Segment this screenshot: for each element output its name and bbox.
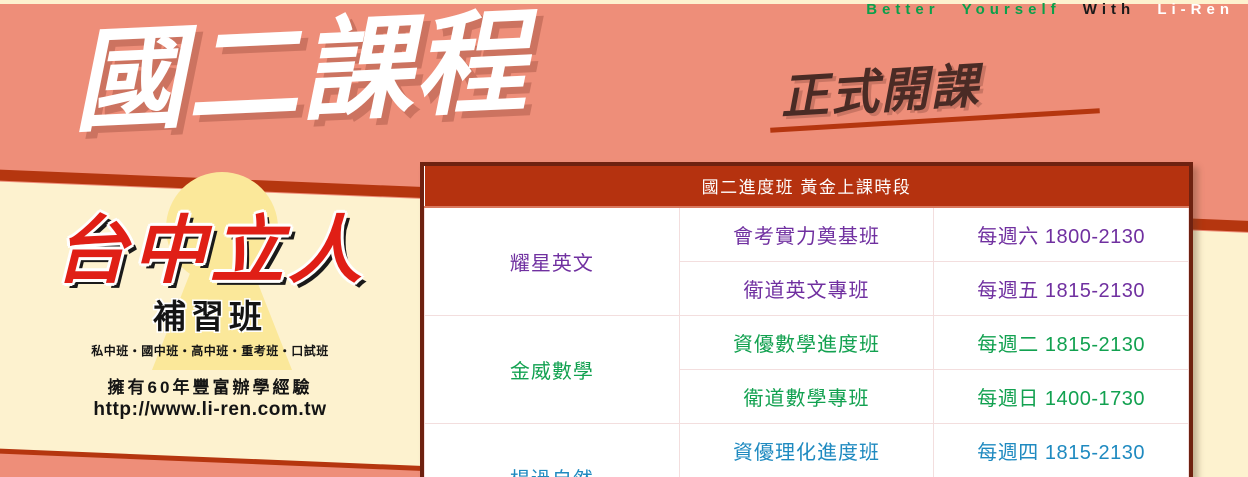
headline-main-title: 國二課程 [70,6,531,141]
schedule-table-title: 國二進度班 黃金上課時段 [425,166,1189,207]
table-row: 楊過自然 資優理化進度班 每週四 1815-2130 [425,424,1189,477]
course-name-cell: 會考實力奠基班 [679,207,934,262]
logo-subtitle: 補習班 [30,290,390,338]
table-row: 耀星英文 會考實力奠基班 每週六 1800-2130 [425,207,1189,262]
logo-block: 台中立人 補習班 私中班・國中班・高中班・重考班・口試班 擁有60年豐富辦學經驗… [30,190,390,420]
headline: 國二課程 [70,6,531,141]
schedule-table-container: 國二進度班 黃金上課時段 耀星英文 會考實力奠基班 每週六 1800-2130 … [420,162,1193,477]
course-time-cell: 每週六 1800-2130 [934,207,1189,262]
course-name-cell: 資優理化進度班 [679,424,934,477]
tagline-word-with: With [1083,1,1135,18]
subject-cell-math: 金威數學 [425,316,680,424]
schedule-table: 國二進度班 黃金上課時段 耀星英文 會考實力奠基班 每週六 1800-2130 … [424,166,1189,477]
headline-subtitle: 正式開課 [778,46,982,128]
tagline-word-li-ren: Li-Ren [1157,1,1234,18]
schedule-table-head: 國二進度班 黃金上課時段 [425,166,1189,207]
course-name-cell: 衛道數學專班 [679,370,934,424]
course-time-cell: 每週五 1815-2130 [934,262,1189,316]
logo-brand-name: 台中立人 [30,190,390,288]
tagline-word-yourself: Yourself [962,1,1061,18]
course-time-cell: 每週二 1815-2130 [934,316,1189,370]
course-name-cell: 衛道英文專班 [679,262,934,316]
table-row: 金威數學 資優數學進度班 每週二 1815-2130 [425,316,1189,370]
schedule-table-body: 耀星英文 會考實力奠基班 每週六 1800-2130 衛道英文專班 每週五 18… [425,207,1189,477]
logo-experience: 擁有60年豐富辦學經驗 [30,373,390,398]
course-name-cell: 資優數學進度班 [679,316,934,370]
logo-website-url: http://www.li-ren.com.tw [30,399,390,421]
promo-banner: Better Yourself With Li-Ren 國二課程 正式開課 台中… [0,0,1248,477]
subject-cell-science: 楊過自然 [425,424,680,477]
table-header-row: 國二進度班 黃金上課時段 [425,166,1189,207]
tagline: Better Yourself With Li-Ren [866,1,1234,18]
course-time-cell: 每週四 1815-2130 [934,424,1189,477]
subject-cell-english: 耀星英文 [425,207,680,316]
tagline-word-better: Better [866,1,939,18]
course-time-cell: 每週日 1400-1730 [934,370,1189,424]
logo-class-list: 私中班・國中班・高中班・重考班・口試班 [30,342,390,359]
